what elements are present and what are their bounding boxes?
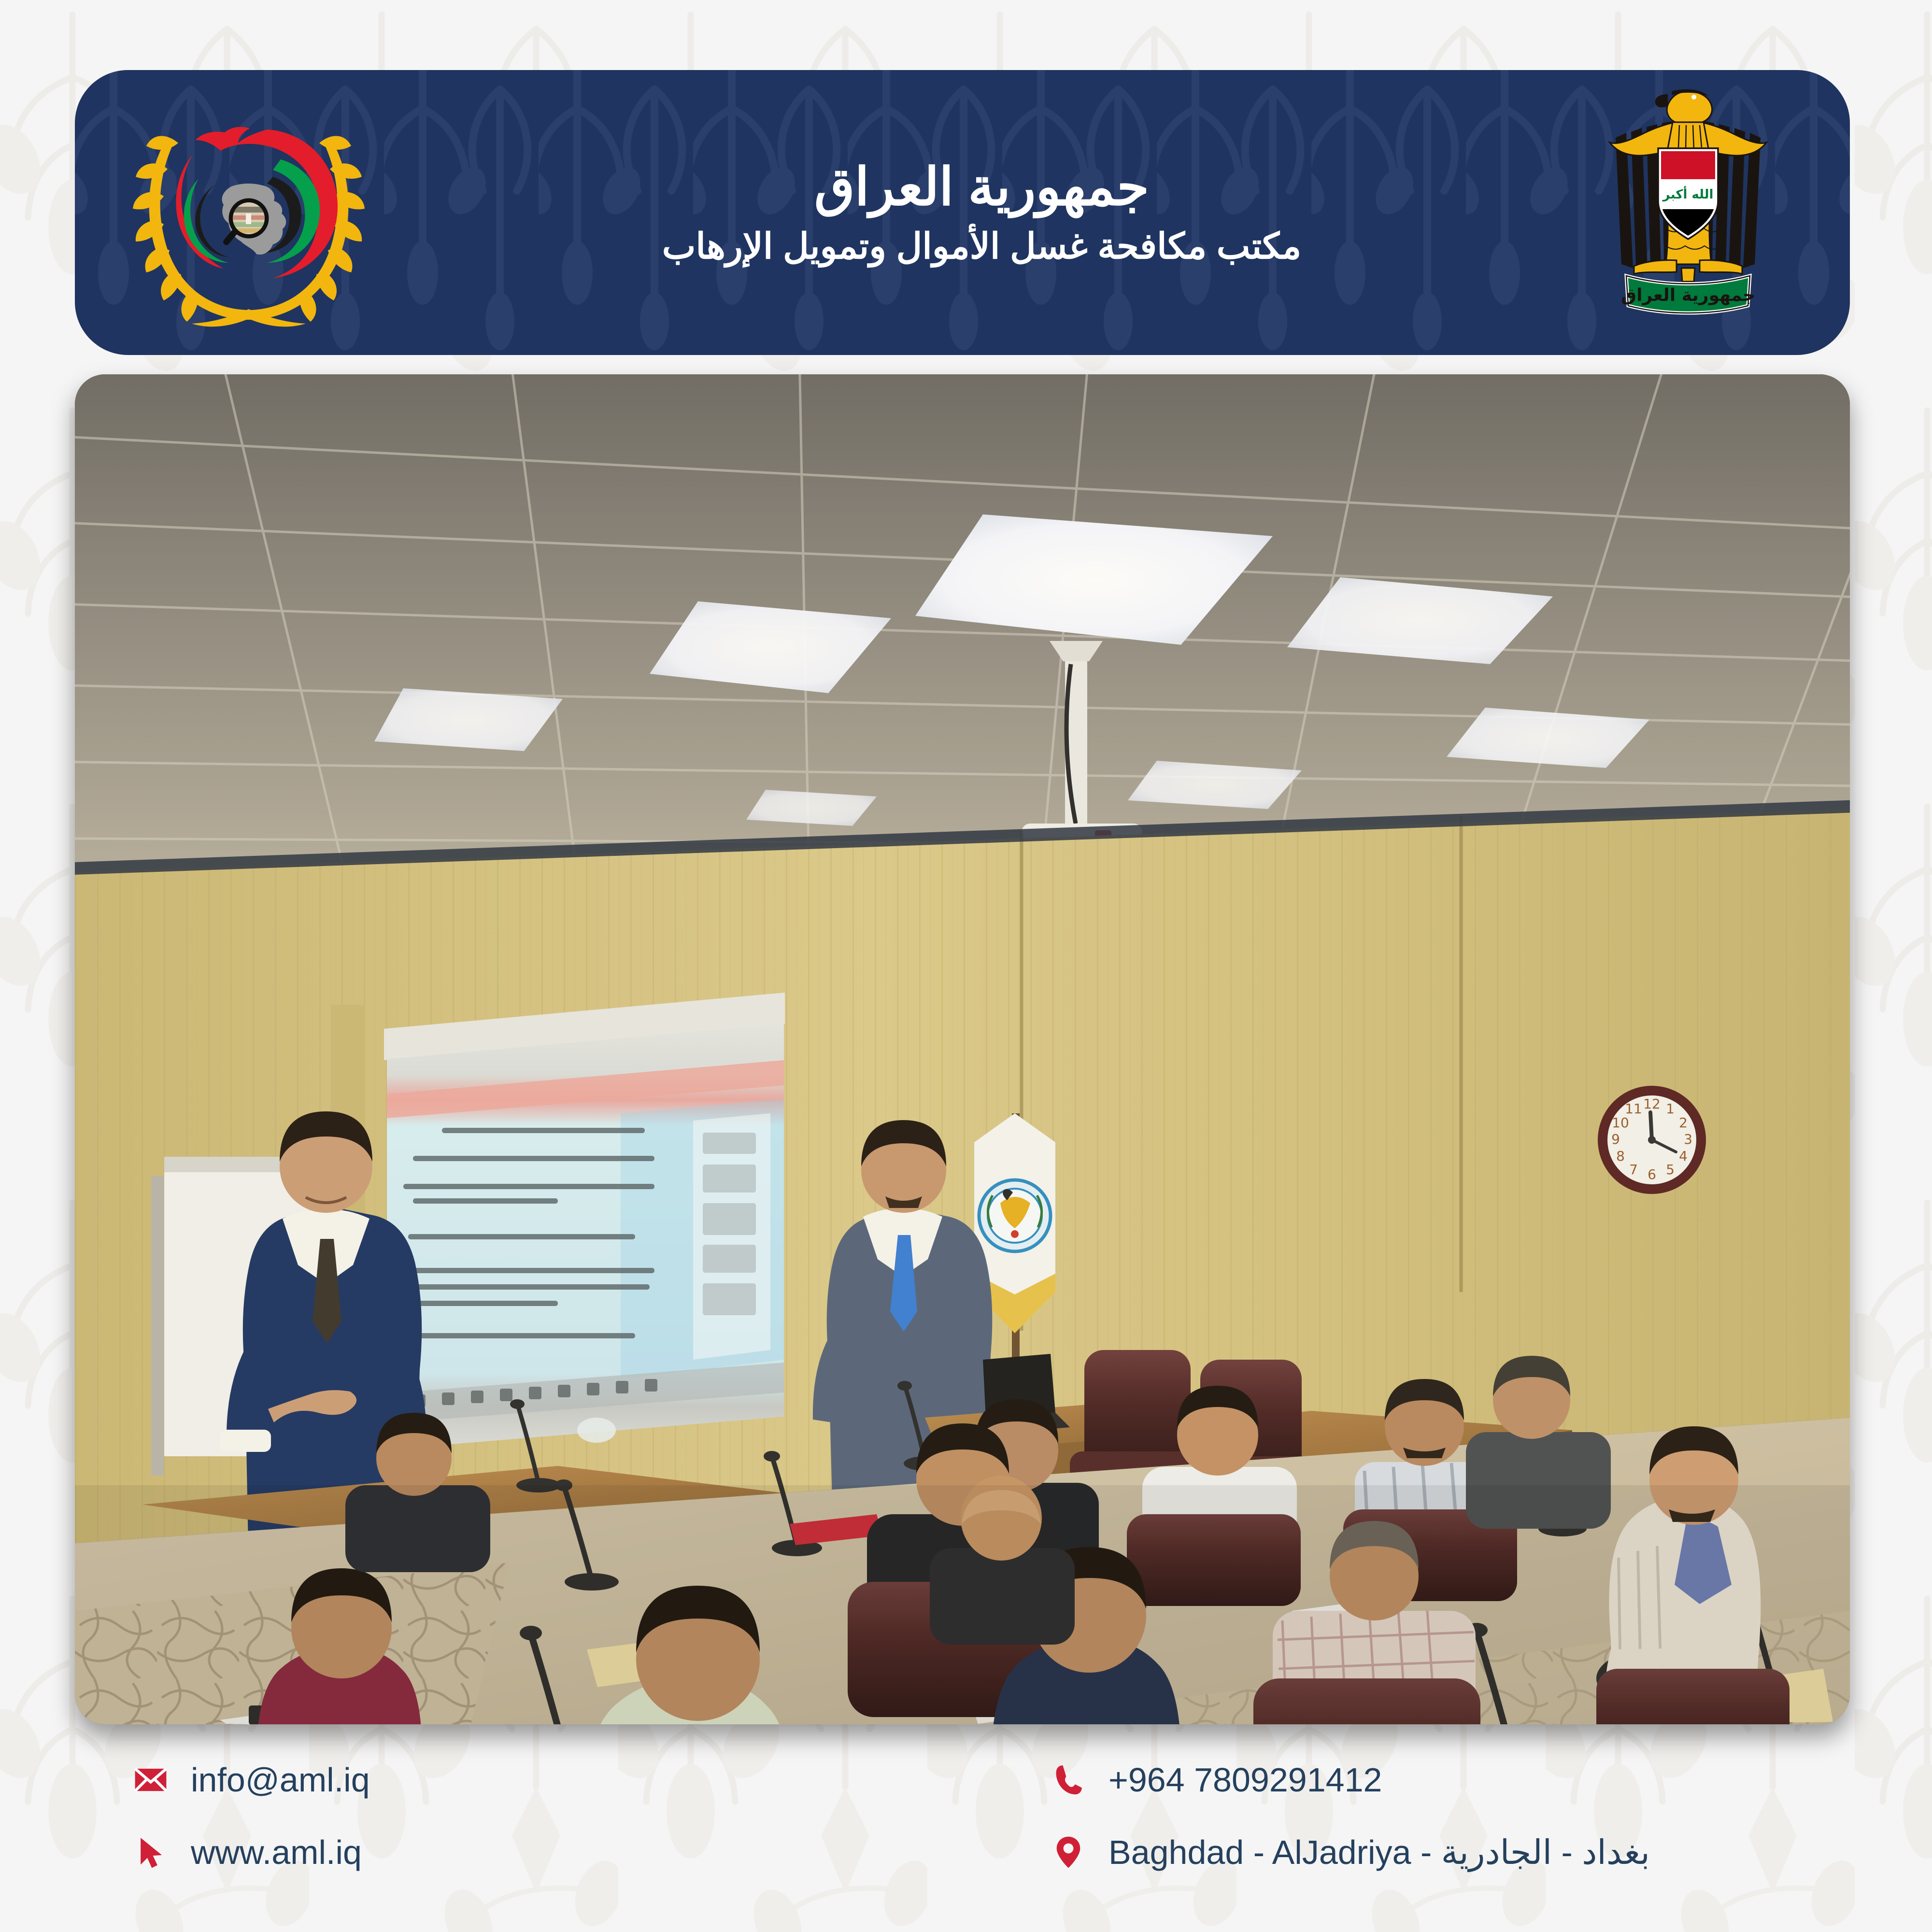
header-title-group: جمهورية العراق مكتب مكافحة غسل الأموال و… [413, 70, 1550, 355]
footer-email-row[interactable]: info@aml.iq [133, 1744, 370, 1816]
page-subtitle: مكتب مكافحة غسل الأموال وتمويل الإرهاب [662, 227, 1302, 266]
phone-text: +964 7809291412 [1108, 1763, 1382, 1797]
footer-left-column: info@aml.iq www.aml.iq [133, 1744, 370, 1903]
footer-right-column: +964 7809291412 Baghdad - AlJadriya - بغ… [1051, 1744, 1650, 1903]
phone-icon [1051, 1762, 1086, 1798]
website-text: www.aml.iq [191, 1835, 362, 1869]
email-text: info@aml.iq [191, 1763, 370, 1797]
coat-arms-scroll-text: جمهورية العراق [1621, 285, 1755, 305]
event-photo: 121 23 45 67 89 1011 [75, 374, 1850, 1724]
conference-hall-photo: 121 23 45 67 89 1011 [75, 374, 1850, 1724]
header-banner: الله أكبر جمهورية العراق جمهورية العراق … [75, 70, 1850, 355]
footer-website-row[interactable]: www.aml.iq [133, 1816, 370, 1889]
footer-contact-bar: info@aml.iq www.aml.iq +964 7809291412 [75, 1744, 1850, 1903]
cursor-arrow-icon [133, 1834, 169, 1870]
iraq-coat-of-arms-icon: الله أكبر جمهورية العراق [1587, 75, 1790, 350]
location-pin-icon [1051, 1834, 1086, 1870]
footer-address-row[interactable]: Baghdad - AlJadriya - بغداد - الجادرية [1051, 1816, 1650, 1889]
address-text: Baghdad - AlJadriya - بغداد - الجادرية [1108, 1835, 1650, 1869]
envelope-icon [133, 1762, 169, 1798]
footer-phone-row[interactable]: +964 7809291412 [1051, 1744, 1650, 1816]
anti-money-laundering-office-emblem-icon [128, 82, 369, 333]
shield-motto-text: الله أكبر [1662, 186, 1714, 202]
page-title: جمهورية العراق [814, 159, 1149, 214]
